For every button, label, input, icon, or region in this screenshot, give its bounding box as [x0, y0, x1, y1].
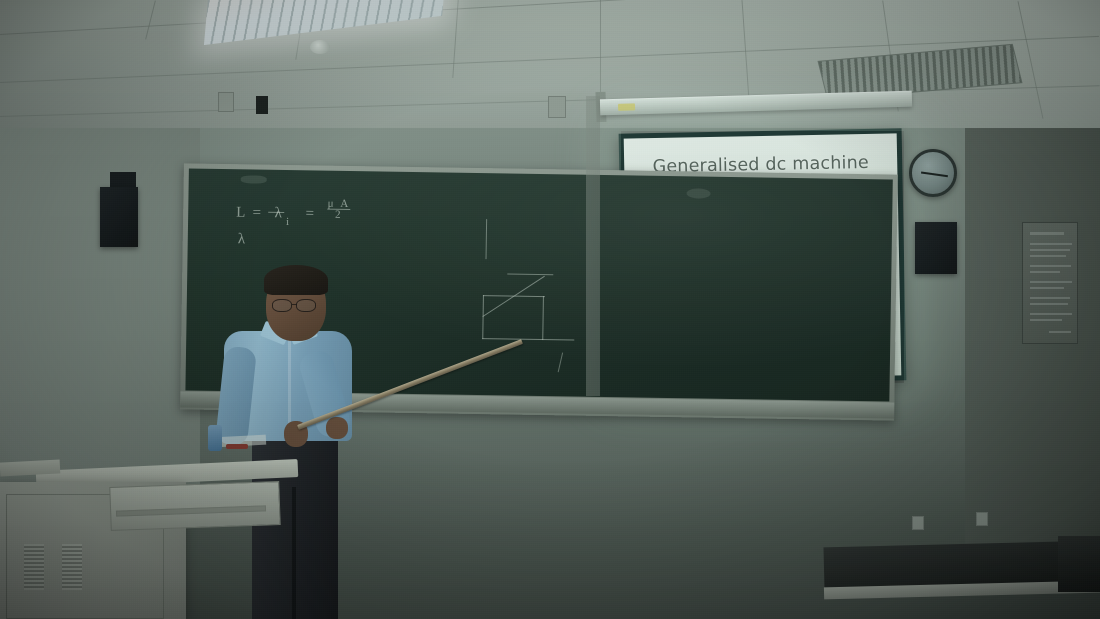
roller-label: [618, 103, 635, 110]
notice-footer: [1049, 331, 1071, 333]
wall-clock: [909, 149, 957, 197]
lecturer-hair: [264, 265, 328, 295]
notice-heading: [1030, 232, 1064, 235]
smoke-detector-icon: [310, 40, 330, 54]
right-speaker-caption: [912, 282, 916, 288]
right-wall-dark-panel: [1058, 536, 1100, 592]
wall-outlet-1: [912, 516, 924, 530]
glasses-bridge: [292, 304, 297, 305]
wall-plate: [218, 92, 234, 112]
chalk-i-denominator: i: [286, 216, 289, 228]
left-speaker-bracket: [110, 172, 136, 188]
right-wall-speaker: [915, 222, 957, 274]
notice-text-5: [1030, 271, 1060, 273]
lecture-hall-photo: Generalised dc machine q-axis d-axis N S: [0, 0, 1100, 619]
chalk-smudge-2: [241, 175, 267, 183]
notice-text-10: [1030, 313, 1072, 315]
red-marker: [226, 444, 248, 449]
glasses-right-lens: [296, 299, 316, 312]
lecturer-leg-gap: [292, 487, 296, 619]
left-wall-speaker: [100, 187, 138, 247]
notice-text-9: [1030, 303, 1068, 305]
lectern-vent-left: [24, 544, 44, 590]
chalk-lambda: λ: [238, 231, 246, 248]
lecturer-right-hand: [326, 417, 348, 439]
wall-mounted-sensor: [256, 96, 268, 114]
notice-text-8: [1030, 297, 1070, 299]
wall-notice-board: [1022, 222, 1078, 344]
chalk-equation: L = λ = μ A2: [236, 197, 350, 223]
clock-hand-minute: [932, 173, 948, 177]
notice-text-6: [1030, 281, 1072, 283]
wall-column-edge: [586, 96, 600, 396]
notice-text-4: [1030, 265, 1071, 267]
wall-outlet-2: [976, 512, 988, 526]
notice-text-7: [1030, 287, 1064, 289]
notice-text-11: [1030, 319, 1062, 321]
chalk-smudge-1: [686, 188, 710, 198]
notice-text-3: [1030, 255, 1066, 257]
water-bottle: [208, 425, 222, 451]
clock-hand-hour: [921, 171, 932, 175]
glasses-left-lens: [272, 299, 292, 312]
notice-text-2: [1030, 249, 1070, 251]
notice-text-1: [1030, 243, 1072, 245]
wall-switch-panel: [548, 96, 566, 118]
lectern-vent-right: [62, 544, 82, 590]
